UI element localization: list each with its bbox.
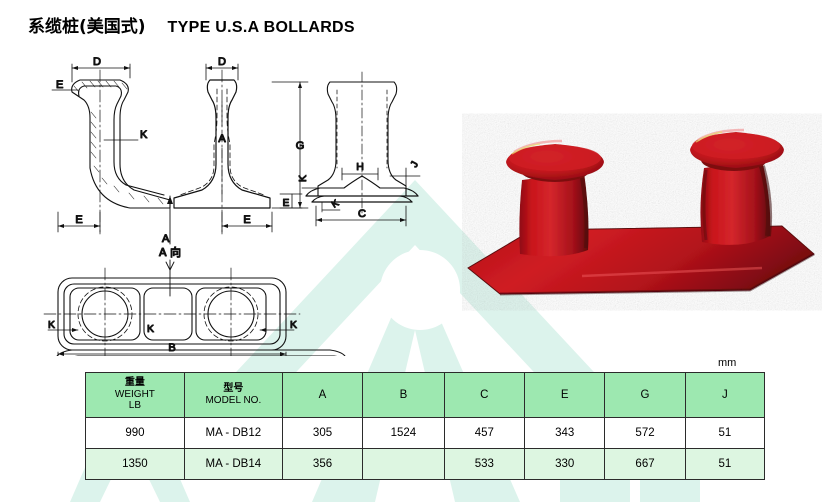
dim-label-K-elevation: K <box>140 129 148 141</box>
header-dim-c: C <box>444 373 524 418</box>
dim-label-D-right: D <box>218 56 226 68</box>
dim-D-left <box>72 64 130 82</box>
specification-table: 重量 WEIGHT LB 型号 MODEL NO. A B C E G J 99… <box>85 372 765 480</box>
cell-dim-j: 51 <box>685 418 764 449</box>
cell-dim-c: 533 <box>444 449 524 480</box>
product-photo <box>462 108 822 313</box>
side-view <box>306 72 418 214</box>
dim-label-E-upper: E <box>56 79 63 91</box>
cell-dim-g: 572 <box>605 418 685 449</box>
cell-dim-e: 343 <box>525 418 605 449</box>
cell-model: MA - DB14 <box>184 449 282 480</box>
header-dim-b: B <box>363 373 444 418</box>
header-model: 型号 MODEL NO. <box>184 373 282 418</box>
dim-label-K-plan-right: K <box>290 319 297 331</box>
header-weight-en: WEIGHT <box>86 389 184 401</box>
photo-right-bollard <box>690 130 784 245</box>
cell-weight: 990 <box>86 418 185 449</box>
dim-label-E-bottom-left: E <box>75 214 82 226</box>
dim-label-K-plan-left: K <box>48 319 55 331</box>
cell-weight: 1350 <box>86 449 185 480</box>
dim-label-E-side: E <box>283 198 290 209</box>
technical-drawing: D D E K <box>34 56 464 356</box>
header-weight-cn: 重量 <box>86 378 184 389</box>
header-dim-g: G <box>605 373 685 418</box>
title-chinese: 系缆桩(美国式) <box>28 12 146 37</box>
header-dim-j: J <box>685 373 764 418</box>
plan-view-label: A 向 <box>159 245 181 259</box>
dim-label-H: H <box>356 161 364 173</box>
cell-dim-a: 356 <box>282 449 362 480</box>
dim-label-K-side: K <box>297 175 309 182</box>
cell-dim-b <box>363 449 444 480</box>
table-header-row: 重量 WEIGHT LB 型号 MODEL NO. A B C E G J <box>86 373 765 418</box>
table-row: 990 MA - DB12 305 1524 457 343 572 51 <box>86 418 765 449</box>
dim-label-K-side-bottom: K <box>330 198 342 211</box>
cell-dim-g: 667 <box>605 449 685 480</box>
cell-model: MA - DB12 <box>184 418 282 449</box>
dim-label-E-bottom-right: E <box>243 214 250 226</box>
dim-label-A-elevation: A <box>218 133 226 145</box>
unit-label: mm <box>718 357 736 369</box>
elevation-left-bollard <box>72 80 170 208</box>
header-dim-a: A <box>282 373 362 418</box>
table-row: 1350 MA - DB14 356 533 330 667 51 <box>86 449 765 480</box>
cell-dim-a: 305 <box>282 418 362 449</box>
dim-label-J: J <box>409 160 421 170</box>
dim-label-D-left: D <box>93 56 101 68</box>
section-label-A-top: A <box>162 233 170 245</box>
header-weight: 重量 WEIGHT LB <box>86 373 185 418</box>
dim-label-K-plan-mid: K <box>147 323 154 335</box>
dim-label-G: G <box>296 140 305 152</box>
header-dim-e: E <box>525 373 605 418</box>
spec-sheet-page: 系缆桩(美国式) TYPE U.S.A BOLLARDS <box>0 0 830 502</box>
header-weight-unit: LB <box>86 400 184 412</box>
header-model-cn: 型号 <box>185 384 282 395</box>
cell-dim-e: 330 <box>525 449 605 480</box>
header-model-en: MODEL NO. <box>185 395 282 407</box>
cell-dim-j: 51 <box>685 449 764 480</box>
page-title: 系缆桩(美国式) TYPE U.S.A BOLLARDS <box>28 12 355 37</box>
title-english: TYPE U.S.A BOLLARDS <box>168 19 355 37</box>
dim-label-C: C <box>358 208 366 220</box>
cell-dim-b: 1524 <box>363 418 444 449</box>
cell-dim-c: 457 <box>444 418 524 449</box>
dim-label-B: B <box>168 342 175 354</box>
